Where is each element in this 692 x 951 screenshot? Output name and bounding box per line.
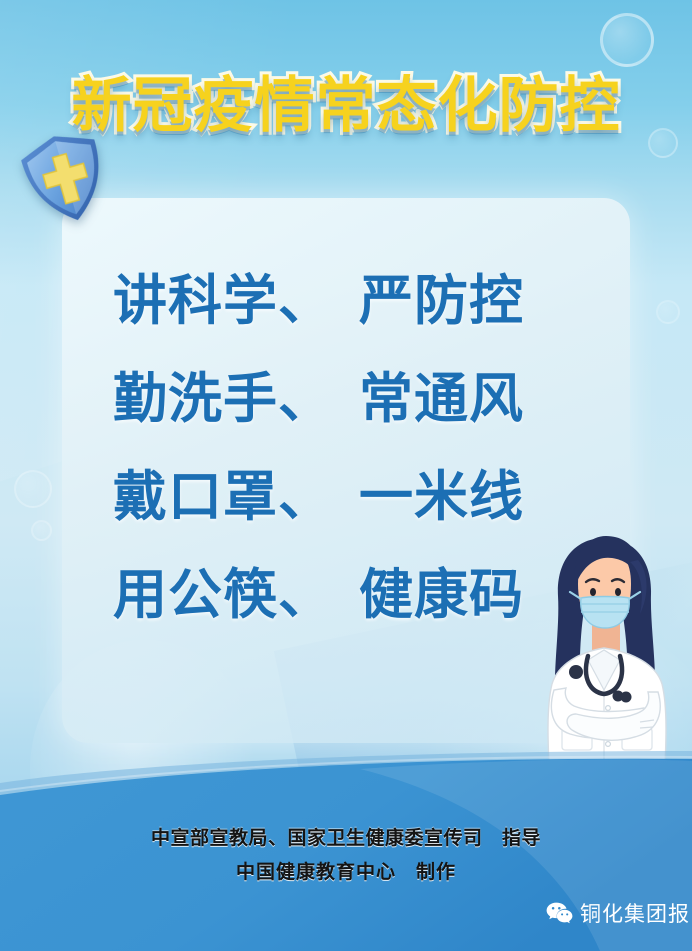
wechat-watermark: 铜化集团报	[546, 898, 690, 928]
slogan-left: 讲科学、	[113, 252, 333, 350]
slogan-left: 勤洗手、	[113, 350, 333, 448]
slogan-line: 勤洗手、 常通风	[62, 350, 630, 448]
poster-title: 新冠疫情常态化防控	[72, 76, 621, 136]
slogan-line: 讲科学、 严防控	[62, 252, 630, 350]
bubble-circle-icon	[14, 470, 52, 508]
bubble-circle-icon	[656, 300, 680, 324]
wechat-icon	[546, 902, 573, 924]
slogan-left: 戴口罩、	[113, 448, 333, 546]
poster-canvas: 新冠疫情常态化防控 讲科学、	[0, 0, 692, 951]
slogan-right: 常通风	[359, 350, 579, 448]
bubble-circle-icon	[600, 13, 654, 67]
wechat-account-name: 铜化集团报	[580, 898, 690, 928]
title-container: 新冠疫情常态化防控	[0, 76, 692, 136]
slogan-right: 严防控	[359, 252, 579, 350]
credit-line-primary: 中宣部宣教局、国家卫生健康委宣传司 指导	[0, 823, 692, 850]
credit-line-secondary: 中国健康教育中心 制作	[0, 857, 692, 884]
bubble-circle-icon	[31, 520, 52, 541]
slogan-left: 用公筷、	[113, 546, 333, 644]
